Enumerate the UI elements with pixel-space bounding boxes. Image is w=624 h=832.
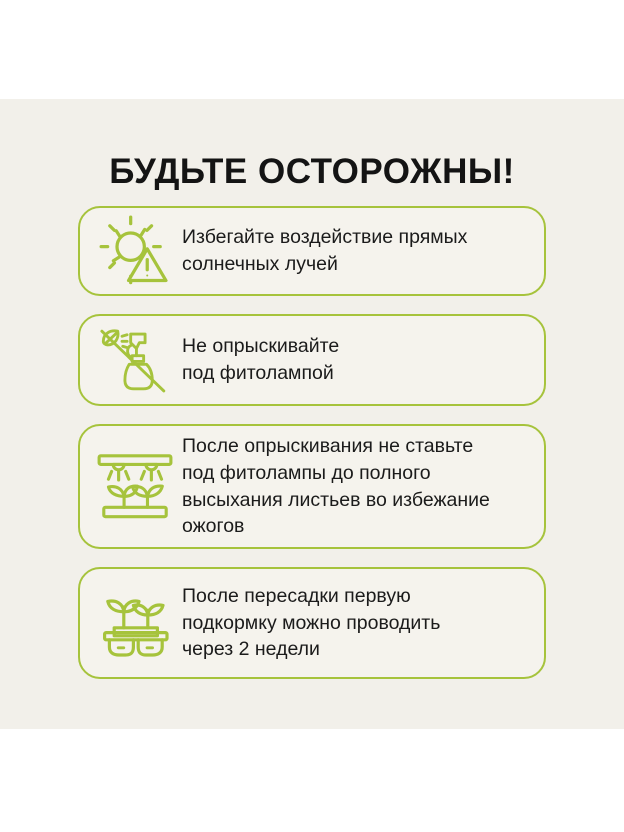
- page-title: БУДЬТЕ ОСТОРОЖНЫ!: [0, 152, 624, 192]
- sun-warning-icon: [94, 210, 176, 292]
- warning-card-text: После пересадки первую подкормку можно п…: [176, 583, 528, 664]
- seedling-tray-icon: [94, 582, 176, 664]
- warning-card-text: Не опрыскивайте под фитолампой: [176, 333, 528, 387]
- warning-card-text: После опрыскивания не ставьте под фитола…: [176, 433, 528, 541]
- warning-card-direct-sunlight[interactable]: Избегайте воздействие прямых солнечных л…: [78, 206, 546, 296]
- warning-card-list: Избегайте воздействие прямых солнечных л…: [78, 206, 546, 697]
- no-spray-bottle-icon: [94, 319, 176, 401]
- warning-card-lamp-after-spray[interactable]: После опрыскивания не ставьте под фитола…: [78, 424, 546, 549]
- content-panel: БУДЬТЕ ОСТОРОЖНЫ!: [0, 99, 624, 729]
- warning-card-text: Избегайте воздействие прямых солнечных л…: [176, 224, 528, 278]
- warning-card-first-feeding[interactable]: После пересадки первую подкормку можно п…: [78, 567, 546, 679]
- infographic-root: БУДЬТЕ ОСТОРОЖНЫ!: [0, 0, 624, 832]
- grow-lamp-plants-icon: [94, 446, 176, 528]
- warning-card-no-spray[interactable]: Не опрыскивайте под фитолампой: [78, 314, 546, 406]
